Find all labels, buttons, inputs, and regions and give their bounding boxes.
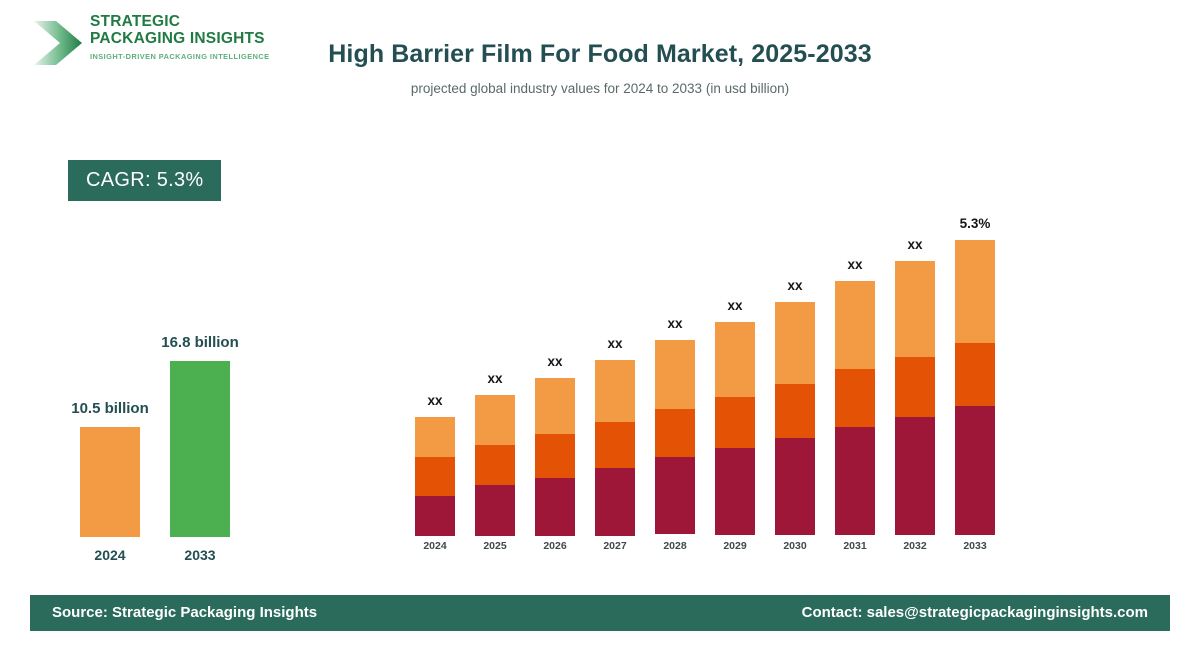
infographic-page: STRATEGIC PACKAGING INSIGHTS INSIGHT-DRI…	[0, 0, 1200, 650]
stacked-bar-segment	[835, 369, 875, 427]
footer-bar: Source: Strategic Packaging Insights Con…	[30, 595, 1170, 631]
stacked-bar	[895, 261, 935, 535]
stacked-bar-segment	[655, 340, 695, 409]
footer-source: Source: Strategic Packaging Insights	[52, 595, 317, 631]
stacked-bar-segment	[775, 384, 815, 438]
stacked-bar-segment	[415, 457, 455, 496]
stacked-bar-label: xx	[575, 336, 655, 351]
stacked-bar-segment	[595, 360, 635, 422]
stacked-bar-segment	[715, 397, 755, 448]
stacked-bar	[535, 378, 575, 535]
stacked-bar-segment	[655, 457, 695, 534]
stacked-bar-label: xx	[515, 354, 595, 369]
stacked-bar-label: 5.3%	[935, 216, 1015, 231]
stacked-bar-segment	[595, 422, 635, 468]
stacked-bar	[775, 302, 815, 535]
stacked-bar-segment	[475, 395, 515, 445]
stacked-bar	[475, 395, 515, 535]
stacked-bar	[655, 340, 695, 535]
stacked-bar-segment	[655, 409, 695, 457]
stacked-bar-segment	[535, 434, 575, 478]
stacked-bar-label: xx	[815, 257, 895, 272]
stacked-bar-segment	[595, 468, 635, 536]
projection-stacked-chart: xx2024xx2025xx2026xx2027xx2028xx2029xx20…	[0, 0, 1200, 650]
stacked-bar-segment	[955, 343, 995, 406]
stacked-bar-segment	[895, 417, 935, 535]
stacked-bar-label: xx	[455, 371, 535, 386]
stacked-bar-segment	[835, 427, 875, 535]
stacked-bar-segment	[475, 445, 515, 485]
stacked-bar-segment	[895, 261, 935, 357]
stacked-bar-label: xx	[695, 298, 775, 313]
footer-contact: Contact: sales@strategicpackaginginsight…	[802, 595, 1148, 631]
stacked-bar-segment	[475, 485, 515, 536]
stacked-bar-segment	[895, 357, 935, 417]
stacked-bar-segment	[955, 240, 995, 343]
stacked-bar-segment	[775, 302, 815, 384]
stacked-bar	[835, 281, 875, 535]
stacked-bar-segment	[715, 448, 755, 535]
stacked-bar-segment	[535, 478, 575, 536]
stacked-bar	[955, 240, 995, 535]
stacked-bar-label: xx	[875, 237, 955, 252]
stacked-bar-label: xx	[635, 316, 715, 331]
stacked-bar-segment	[775, 438, 815, 535]
stacked-bar	[715, 322, 755, 535]
stacked-bar-segment	[715, 322, 755, 397]
stacked-bar-label: xx	[755, 278, 835, 293]
stacked-bar-segment	[955, 406, 995, 535]
stacked-bar-segment	[535, 378, 575, 434]
stacked-bar-segment	[835, 281, 875, 369]
stacked-bar-year: 2033	[935, 540, 1015, 552]
stacked-bar-label: xx	[395, 393, 475, 408]
stacked-bar-segment	[415, 417, 455, 457]
stacked-bar-segment	[415, 496, 455, 536]
stacked-bar	[415, 417, 455, 535]
stacked-bar	[595, 360, 635, 535]
